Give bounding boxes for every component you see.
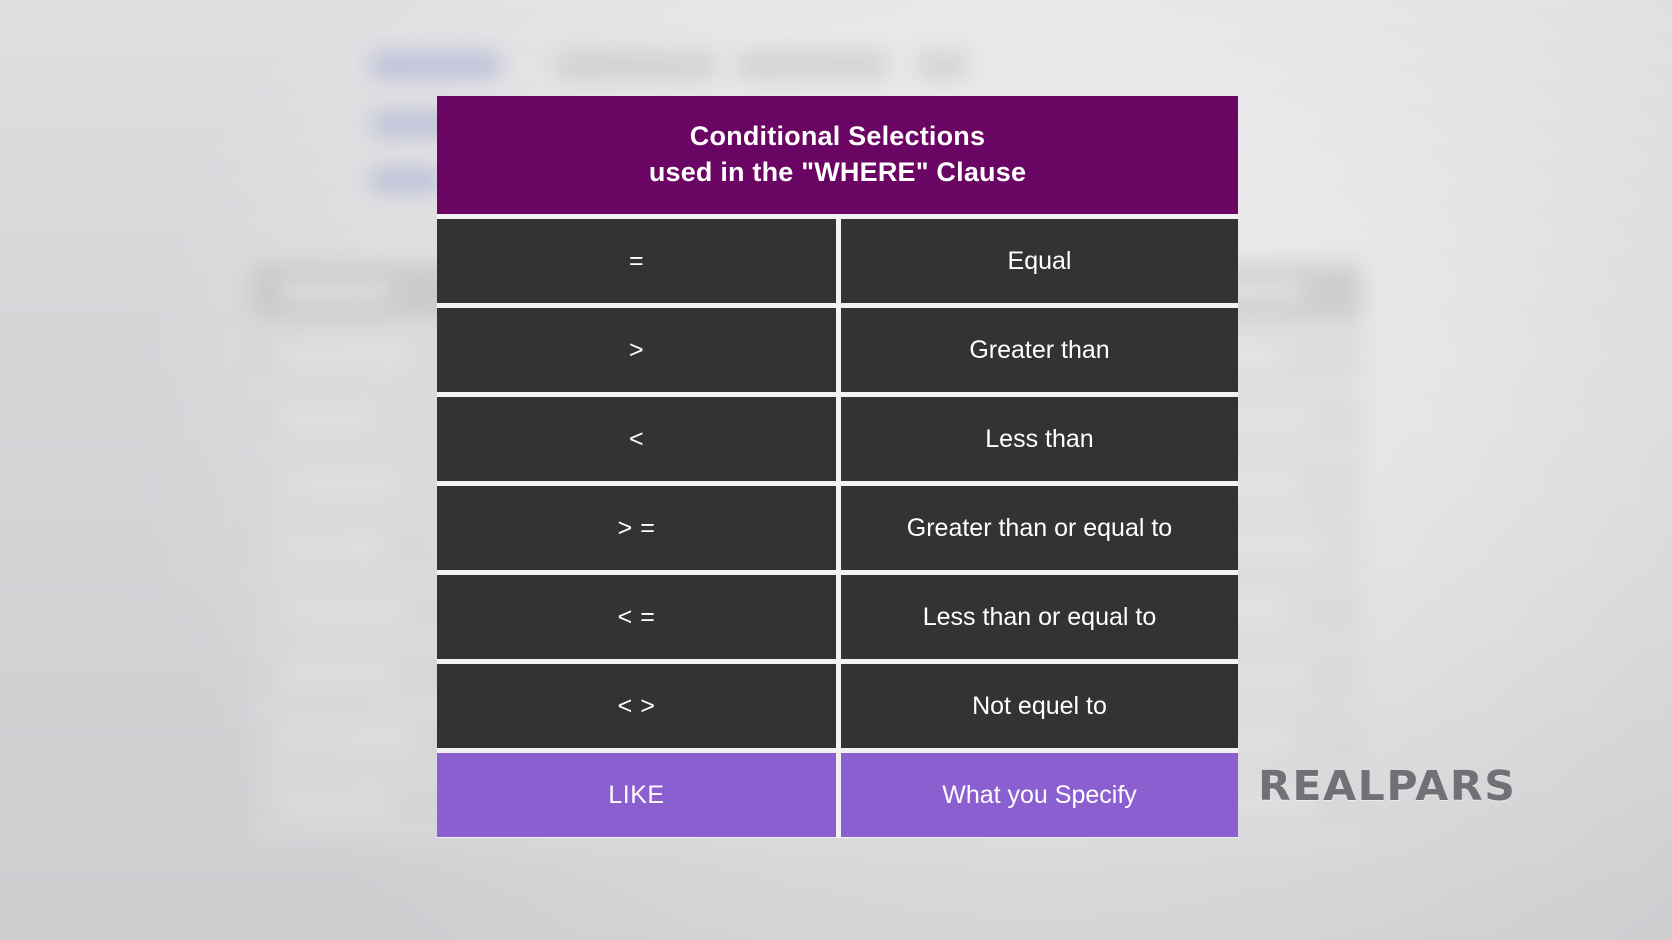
description-cell: Less than [841, 397, 1238, 481]
conditional-selections-table: Conditional Selections used in the "WHER… [437, 96, 1238, 838]
table-title-line-1: Conditional Selections [690, 121, 985, 151]
realpars-logo: REALPARS [1258, 764, 1507, 808]
description-cell: Less than or equal to [841, 575, 1238, 659]
description-cell: What you Specify [841, 753, 1238, 837]
operator-cell: > [437, 308, 836, 392]
table-row: < = Less than or equal to [437, 575, 1238, 659]
operator-cell: > = [437, 486, 836, 570]
table-body: = Equal > Greater than < Less than > = G… [437, 214, 1238, 837]
description-cell: Greater than or equal to [841, 486, 1238, 570]
operator-cell: < [437, 397, 836, 481]
description-cell: Not equel to [841, 664, 1238, 748]
description-cell: Greater than [841, 308, 1238, 392]
operator-cell: LIKE [437, 753, 836, 837]
table-row-highlighted: LIKE What you Specify [437, 753, 1238, 837]
table-title-line-2: used in the "WHERE" Clause [649, 155, 1026, 191]
operator-cell: < > [437, 664, 836, 748]
table-row: < > Not equel to [437, 664, 1238, 748]
table-row: > Greater than [437, 308, 1238, 392]
operator-cell: = [437, 219, 836, 303]
realpars-wordmark: REALPARS [1258, 762, 1517, 810]
table-row: < Less than [437, 397, 1238, 481]
table-row: > = Greater than or equal to [437, 486, 1238, 570]
table-header: Conditional Selections used in the "WHER… [437, 96, 1238, 214]
table-row: = Equal [437, 219, 1238, 303]
description-cell: Equal [841, 219, 1238, 303]
operator-cell: < = [437, 575, 836, 659]
